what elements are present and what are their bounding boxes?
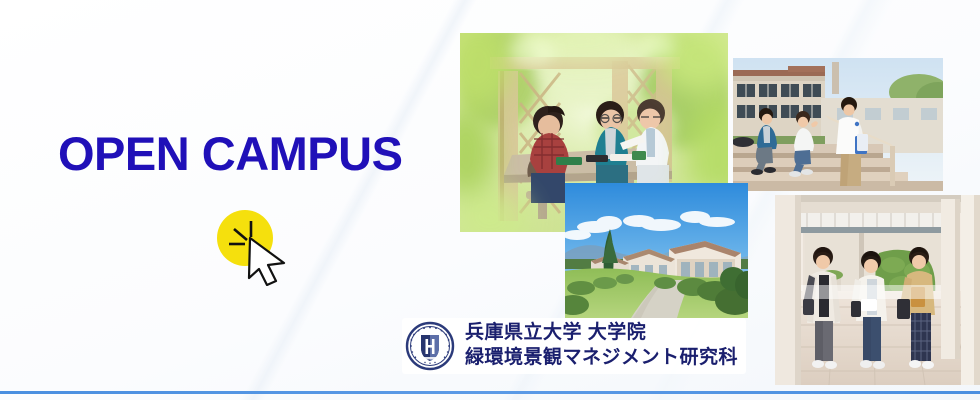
photo-walk	[775, 195, 980, 385]
bottom-divider	[0, 391, 980, 394]
lockup-line-2: 緑環境景観マネジメント研究科	[465, 346, 738, 371]
photo-campus	[565, 183, 748, 318]
open-campus-banner: OPEN CAMPUS	[0, 0, 980, 400]
photo-stairs	[733, 58, 943, 191]
page-title: OPEN CAMPUS	[58, 130, 402, 177]
university-lockup: 兵庫県立大学 大学院 緑環境景観マネジメント研究科	[402, 318, 746, 374]
click-cursor-icon	[213, 208, 295, 286]
university-seal-icon	[405, 321, 455, 371]
lockup-line-1: 兵庫県立大学 大学院	[465, 321, 738, 346]
